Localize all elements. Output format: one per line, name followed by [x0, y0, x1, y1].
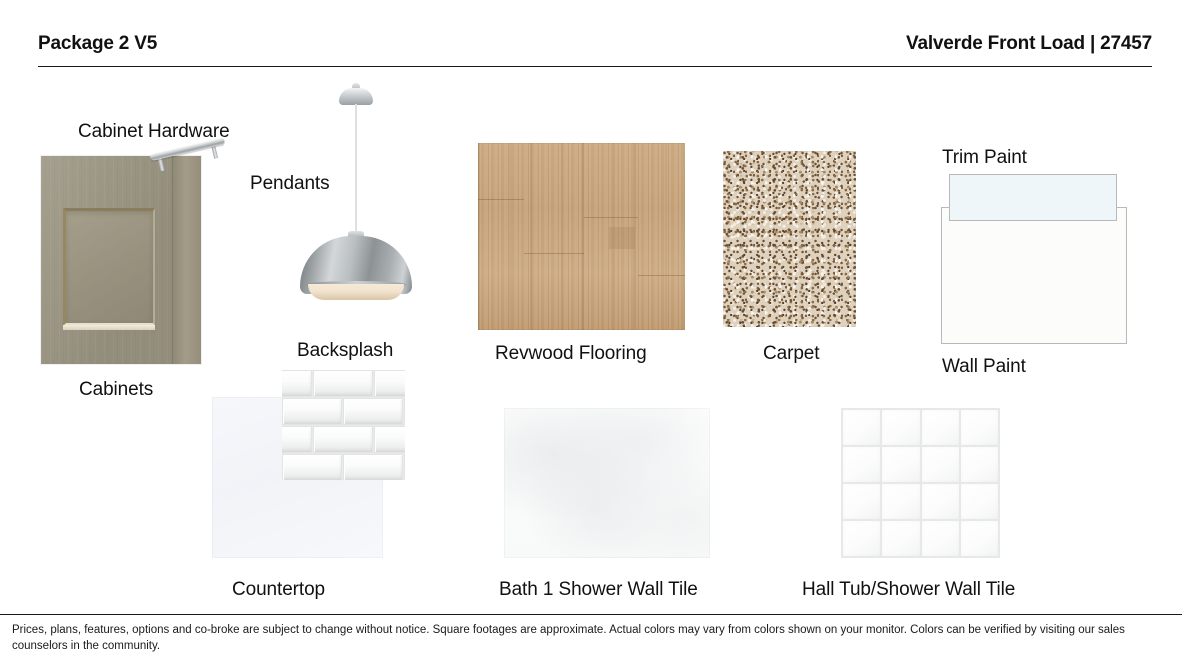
countertop-label: Countertop: [232, 579, 325, 601]
floor-plank-seam: [638, 275, 685, 276]
pendant-rod: [355, 104, 357, 234]
backsplash-tile: [343, 398, 403, 425]
backsplash-tile: [404, 398, 405, 425]
hall-tile-cell: [882, 484, 919, 519]
community-plan-title: Valverde Front Load | 27457: [906, 33, 1152, 55]
hall-tile-cell: [961, 484, 998, 519]
carpet-label: Carpet: [763, 343, 819, 365]
hall-tile-cell: [882, 521, 919, 556]
backsplash-tile: [343, 454, 403, 480]
backsplash-tile: [404, 454, 405, 480]
backsplash-tile: [313, 370, 373, 397]
hall-tile-cell: [922, 521, 959, 556]
hall-tub-shower-wall-tile-label: Hall Tub/Shower Wall Tile: [802, 579, 1015, 601]
backsplash-tile: [282, 426, 312, 453]
cabinet-recessed-panel: [63, 208, 155, 326]
trim-paint-swatch: [949, 174, 1117, 221]
floor-plank-seam: [478, 199, 524, 200]
backsplash-tile-row: [282, 398, 405, 425]
hall-tile-cell: [882, 410, 919, 445]
design-package-board: Package 2 V5 Valverde Front Load | 27457…: [0, 0, 1182, 665]
hall-tile-cell: [843, 484, 880, 519]
cabinets-swatch: [41, 156, 201, 364]
hall-tile-cell: [922, 410, 959, 445]
backsplash-swatch: [282, 370, 405, 480]
floor-plank-seam: [524, 253, 584, 254]
backsplash-tile: [374, 426, 405, 453]
backsplash-tile-row: [282, 454, 405, 480]
pull-post-left: [158, 158, 165, 172]
backsplash-tile: [282, 398, 342, 425]
backsplash-label: Backsplash: [297, 340, 393, 362]
footer-divider: [0, 614, 1182, 615]
pendants-swatch: [300, 88, 412, 303]
backsplash-tile: [374, 370, 405, 397]
backsplash-tile: [282, 454, 342, 480]
revwood-flooring-label: Revwood Flooring: [495, 343, 647, 365]
floor-plank-seam: [584, 217, 638, 218]
pendant-shade-interior: [308, 284, 404, 300]
hall-tile-cell: [961, 447, 998, 482]
bath-1-shower-wall-tile-label: Bath 1 Shower Wall Tile: [499, 579, 698, 601]
hall-tile-cell: [843, 521, 880, 556]
backsplash-tile: [313, 426, 373, 453]
hall-tile-cell: [882, 447, 919, 482]
wall-paint-label: Wall Paint: [942, 356, 1026, 378]
hall-tile-cell: [961, 410, 998, 445]
footer-disclaimer: Prices, plans, features, options and co-…: [12, 622, 1170, 654]
revwood-flooring-swatch: [478, 143, 685, 330]
pull-post-right: [211, 145, 218, 159]
hall-tub-shower-wall-tile-swatch: [841, 408, 1000, 558]
header-divider: [38, 66, 1152, 67]
backsplash-tile-row: [282, 426, 405, 453]
cabinets-label: Cabinets: [79, 379, 153, 401]
cabinet-panel-highlight: [63, 325, 155, 330]
hall-tile-cell: [922, 484, 959, 519]
backsplash-tile: [282, 370, 312, 397]
hall-tile-cell: [961, 521, 998, 556]
backsplash-tile-row: [282, 370, 405, 397]
trim-paint-label: Trim Paint: [942, 147, 1027, 169]
carpet-swatch: [723, 151, 856, 327]
cabinet-stile: [172, 156, 201, 364]
hall-tile-cell: [843, 410, 880, 445]
hall-tile-cell: [843, 447, 880, 482]
wall-paint-swatch: [941, 207, 1127, 344]
hall-tile-cell: [922, 447, 959, 482]
pendant-canopy: [339, 88, 373, 105]
floor-plank-knot: [609, 227, 635, 249]
bath-1-shower-wall-tile-swatch: [504, 408, 710, 558]
page-title: Package 2 V5: [38, 33, 157, 55]
